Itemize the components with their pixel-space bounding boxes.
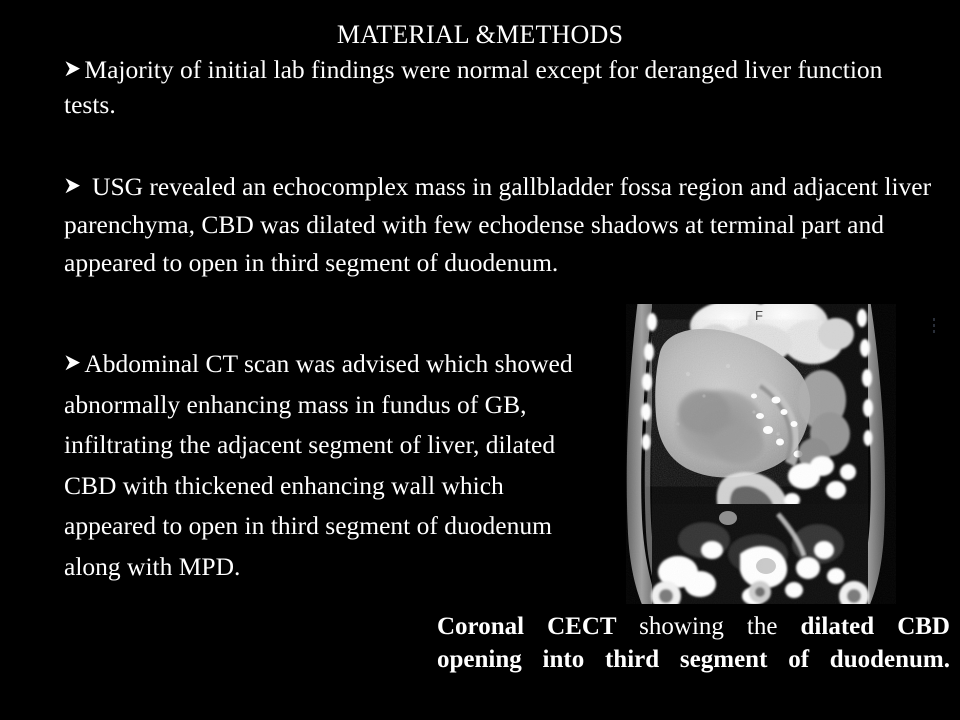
slide-canvas: MATERIAL &METHODS Majority of initial la… [0,0,960,720]
arrowhead-bullet-icon [64,353,84,372]
bullet-text-3: Abdominal CT scan was advised which show… [64,349,573,581]
caption-segment-regular: showing the [639,613,800,640]
bullet-text-1: Majority of initial lab findings were no… [64,55,882,119]
bullet-text-2: USG revealed an echocomplex mass in gall… [64,172,931,277]
page-title: MATERIAL &METHODS [0,20,960,50]
arrowhead-bullet-icon [64,59,84,78]
figure-caption: Coronal CECT showing the dilated CBD ope… [437,610,950,709]
caption-segment-bold-1: Coronal CECT [437,613,639,640]
bullet-paragraph-2: USG revealed an echocomplex mass in gall… [64,168,940,282]
bullet-paragraph-1: Majority of initial lab findings were no… [64,52,940,122]
bullet-paragraph-3: Abdominal CT scan was advised which show… [64,344,584,587]
arrowhead-bullet-icon [64,176,84,195]
coronal-cect-image: F [608,304,914,604]
orientation-marker-label: F [755,308,763,323]
dicom-scale-marker-icon [931,318,937,334]
